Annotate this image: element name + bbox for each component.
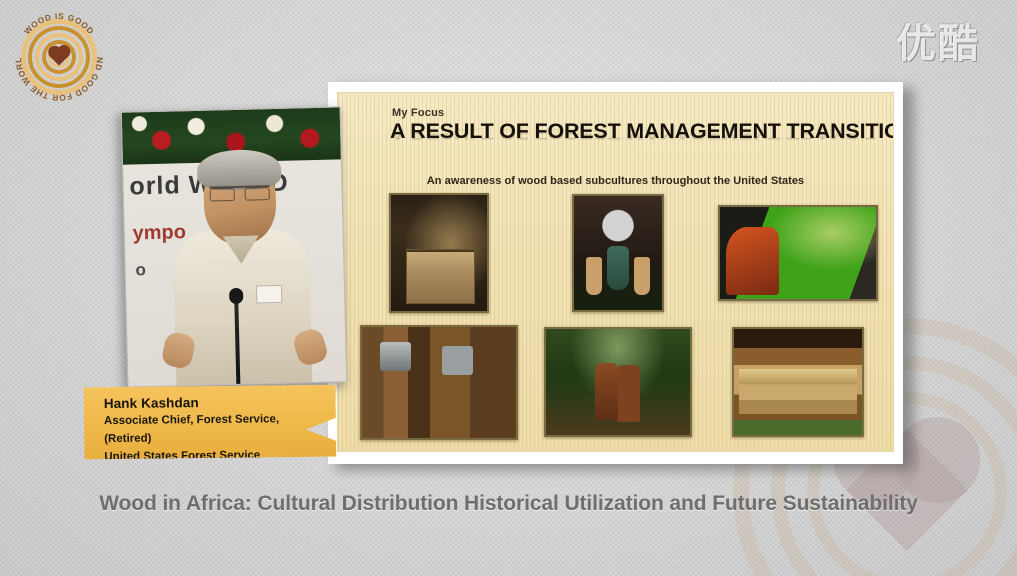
- slide-photo-grid: [356, 193, 881, 441]
- glasses-icon: [210, 185, 270, 197]
- photo-maple-tapping: [360, 325, 518, 440]
- world-wood-day-logo: WOOD IS GOOD AND GOOD FOR THE WORLD: [13, 11, 105, 103]
- backdrop-text-line3: o: [135, 260, 146, 280]
- photo-cell: [536, 193, 702, 313]
- speaker-figure: [175, 154, 309, 385]
- photo-cell: [356, 193, 522, 313]
- photo-cell: [356, 323, 522, 441]
- video-frame: WOOD IS GOOD AND GOOD FOR THE WORLD 优酷 M…: [0, 0, 1017, 576]
- youku-watermark: 优酷: [896, 24, 980, 64]
- photo-draft-horses: [544, 327, 692, 437]
- photo-cell: [715, 323, 881, 441]
- slide-subtitle: An awareness of wood based subcultures t…: [338, 175, 893, 187]
- presentation-slide: My Focus A RESULT OF FOREST MANAGEMENT T…: [328, 82, 903, 464]
- photo-log-furniture: [389, 193, 489, 313]
- speaker-name-badge: [256, 285, 282, 304]
- session-title-caption: Wood in Africa: Cultural Distribution Hi…: [0, 492, 1017, 516]
- slide-kicker: My Focus: [392, 107, 444, 119]
- photo-cell: [536, 323, 702, 441]
- photo-guitar-maker: [572, 194, 664, 312]
- speaker-role: Associate Chief, Forest Service,(Retired…: [104, 411, 322, 449]
- slide-content: My Focus A RESULT OF FOREST MANAGEMENT T…: [337, 92, 894, 452]
- slide-title: A RESULT OF FOREST MANAGEMENT TRANSITION: [390, 119, 875, 144]
- speaker-video-panel: orld Wood D ympo o: [121, 106, 348, 387]
- photo-woodcarver: [718, 205, 878, 301]
- speaker-nameplate: Hank Kashdan Associate Chief, Forest Ser…: [84, 385, 337, 460]
- photo-wooden-boat: [732, 327, 864, 437]
- speaker-organization: United States Forest Service: [104, 446, 322, 466]
- logo-arc-top: WOOD IS GOOD: [22, 11, 96, 36]
- photo-cell: [715, 193, 881, 313]
